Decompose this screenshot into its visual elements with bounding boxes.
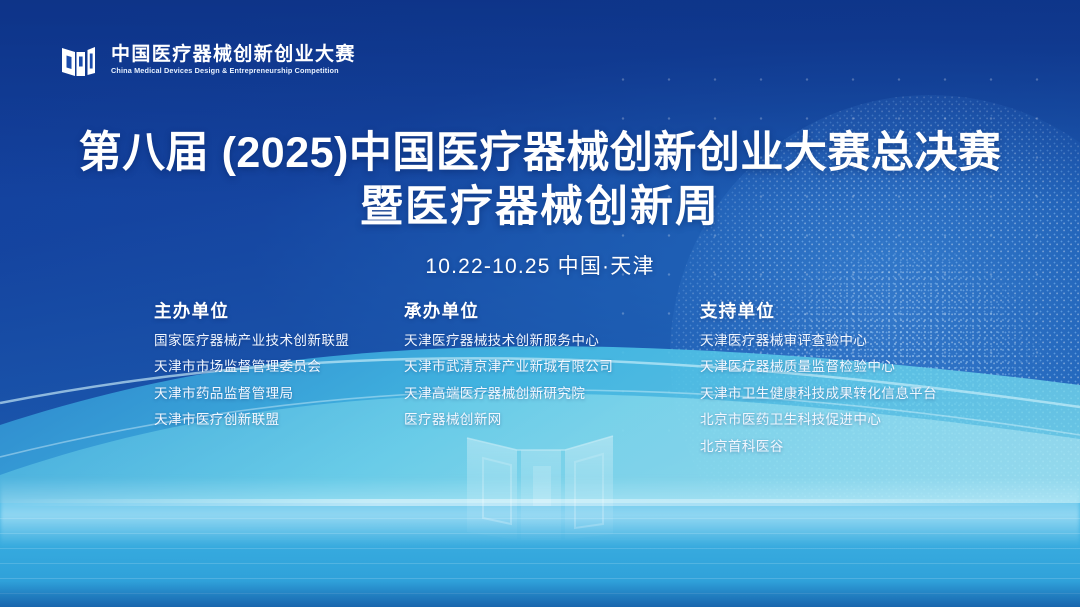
conference-poster: 中国医疗器械创新创业大赛 China Medical Devices Desig… <box>0 0 1080 607</box>
organizer-item: 天津医疗器械质量监督检验中心 <box>700 360 1000 374</box>
page-title: 第八届 (2025)中国医疗器械创新创业大赛总决赛 暨医疗器械创新周 <box>0 126 1080 234</box>
organizer-item: 北京市医药卫生科技促进中心 <box>700 413 1000 427</box>
organizer-item: 天津市药品监督管理局 <box>154 387 404 401</box>
organizer-heading: 支持单位 <box>700 303 1000 321</box>
organizer-item: 天津医疗器械审评查验中心 <box>700 334 1000 348</box>
logo-chinese-name: 中国医疗器械创新创业大赛 <box>111 45 356 65</box>
organizer-item: 天津市武清京津产业新城有限公司 <box>404 360 700 374</box>
organizer-column-host: 主办单位 国家医疗器械产业技术创新联盟 天津市市场监督管理委员会 天津市药品监督… <box>154 303 404 453</box>
logo-text-group: 中国医疗器械创新创业大赛 China Medical Devices Desig… <box>111 45 356 75</box>
organizer-heading: 承办单位 <box>404 303 700 321</box>
organizer-item: 北京首科医谷 <box>700 440 1000 454</box>
organizer-item: 天津市医疗创新联盟 <box>154 413 404 427</box>
organizer-item: 天津市卫生健康科技成果转化信息平台 <box>700 387 1000 401</box>
organizer-column-supporter: 支持单位 天津医疗器械审评查验中心 天津医疗器械质量监督检验中心 天津市卫生健康… <box>700 303 1000 453</box>
competition-logo: 中国医疗器械创新创业大赛 China Medical Devices Desig… <box>58 39 356 81</box>
organizer-column-coorganizer: 承办单位 天津医疗器械技术创新服务中心 天津市武清京津产业新城有限公司 天津高端… <box>404 303 700 453</box>
bottom-edge-shade <box>0 581 1080 607</box>
title-line-2: 暨医疗器械创新周 <box>0 180 1080 234</box>
organizer-item: 天津高端医疗器械创新研究院 <box>404 387 700 401</box>
organizer-item: 医疗器械创新网 <box>404 413 700 427</box>
organizer-heading: 主办单位 <box>154 303 404 321</box>
title-line-1: 第八届 (2025)中国医疗器械创新创业大赛总决赛 <box>0 126 1080 180</box>
organizer-item: 天津市市场监督管理委员会 <box>154 360 404 374</box>
organizers-section: 主办单位 国家医疗器械产业技术创新联盟 天津市市场监督管理委员会 天津市药品监督… <box>154 303 1014 453</box>
date-location-subtitle: 10.22-10.25 中国·天津 <box>0 250 1080 280</box>
organizer-item: 国家医疗器械产业技术创新联盟 <box>154 334 404 348</box>
open-door-book-icon <box>58 39 100 81</box>
logo-english-name: China Medical Devices Design & Entrepren… <box>111 67 348 75</box>
organizer-item: 天津医疗器械技术创新服务中心 <box>404 334 700 348</box>
